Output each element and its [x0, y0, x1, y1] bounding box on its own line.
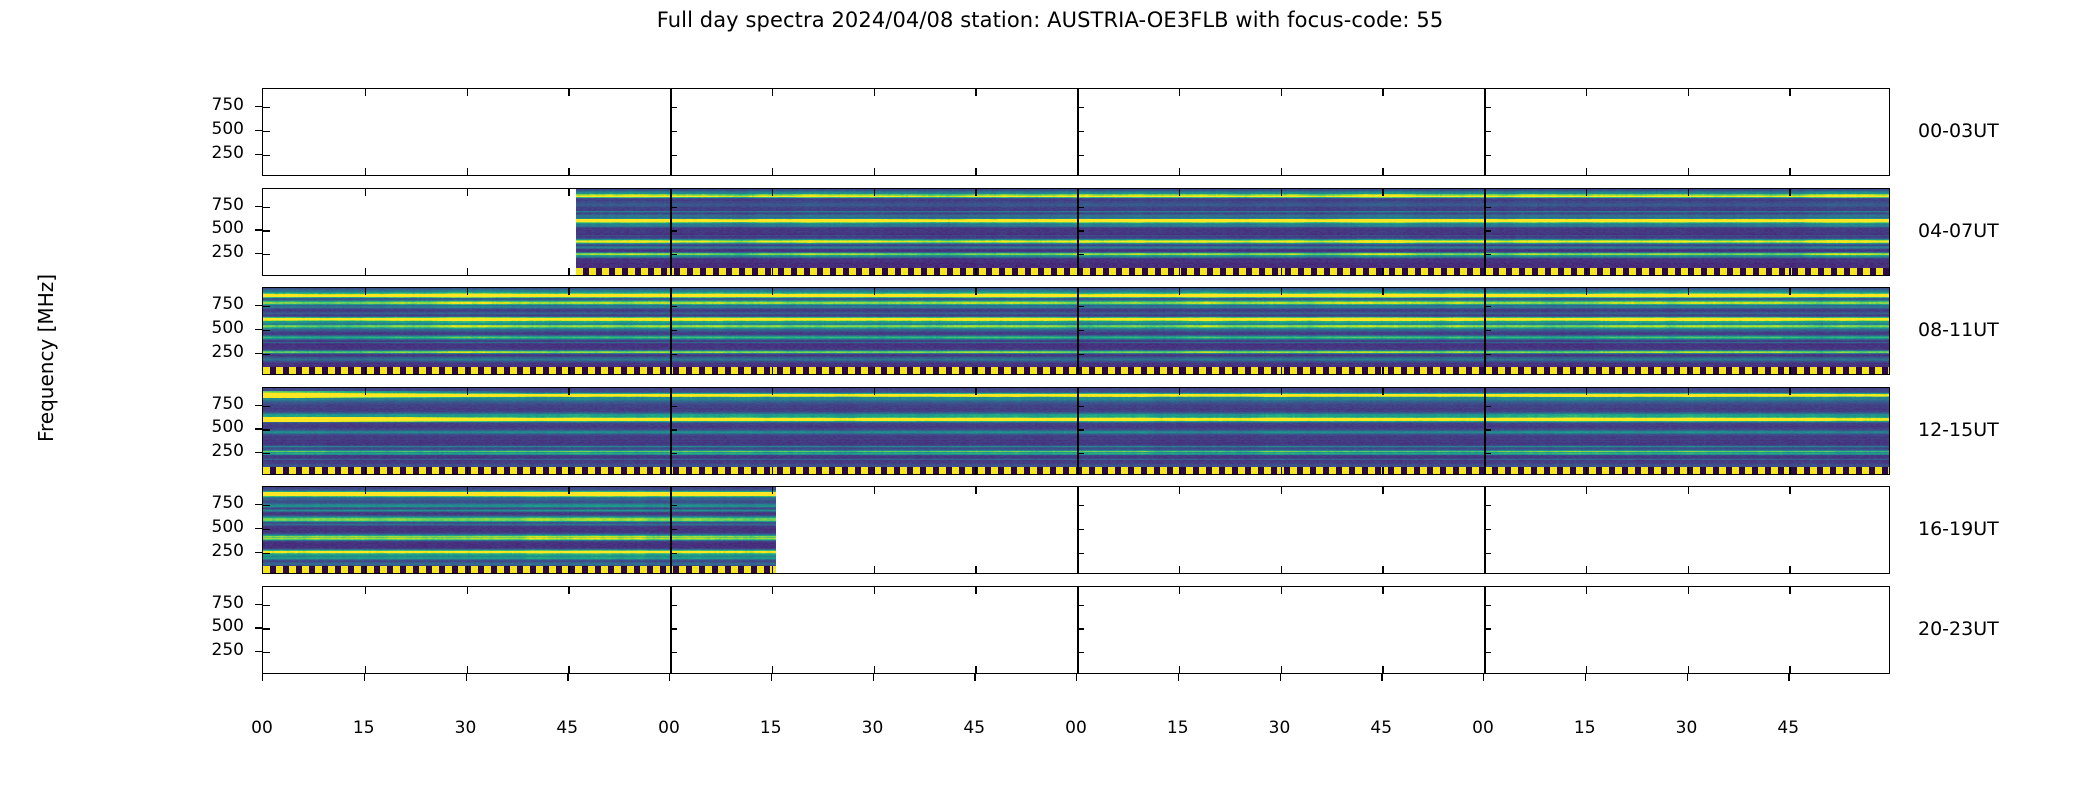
- spectrogram-row-12-15ut[interactable]: [262, 387, 1890, 475]
- x-tick-outer: [1381, 674, 1382, 681]
- y-tick: [670, 529, 677, 530]
- x-tick: [1281, 666, 1282, 673]
- y-tick-outer: [255, 627, 262, 628]
- y-tick: [670, 605, 677, 606]
- x-tick: [975, 587, 976, 594]
- y-tick: [263, 155, 270, 156]
- x-tick: [568, 367, 569, 374]
- x-tick: [467, 388, 468, 395]
- x-tick: [568, 89, 569, 96]
- x-tick: [365, 168, 366, 175]
- row-label-12-15ut: 12-15UT: [1918, 419, 1999, 441]
- x-tick: [1281, 168, 1282, 175]
- x-tick: [1688, 388, 1689, 395]
- x-tick: [1179, 587, 1180, 594]
- x-tick: [365, 587, 366, 594]
- y-tick: [1077, 230, 1084, 231]
- y-tick: [1077, 155, 1084, 156]
- x-tick: [1281, 288, 1282, 295]
- x-tick: [467, 367, 468, 374]
- y-tick: [1077, 453, 1084, 454]
- x-tick: [1382, 168, 1383, 175]
- x-tick-label: 15: [344, 718, 384, 738]
- y-tick: [1484, 330, 1491, 331]
- x-tick-label: 30: [446, 718, 486, 738]
- x-tick-label: 00: [1056, 718, 1096, 738]
- x-tick: [1789, 487, 1790, 494]
- x-tick-outer: [1585, 674, 1586, 681]
- y-tick: [1077, 306, 1084, 307]
- x-tick: [467, 288, 468, 295]
- x-tick: [365, 89, 366, 96]
- x-tick: [874, 388, 875, 395]
- x-tick: [1688, 168, 1689, 175]
- x-tick: [975, 268, 976, 275]
- y-tick: [670, 306, 677, 307]
- x-tick-outer: [1178, 674, 1179, 681]
- y-tick-outer: [255, 130, 262, 131]
- y-tick: [263, 107, 270, 108]
- x-tick: [1586, 168, 1587, 175]
- y-tick-label: 750: [190, 493, 244, 513]
- y-tick-label: 250: [190, 143, 244, 163]
- y-tick-outer: [255, 253, 262, 254]
- x-tick: [1586, 189, 1587, 196]
- x-tick: [874, 189, 875, 196]
- y-tick-outer: [255, 405, 262, 406]
- y-tick-outer: [255, 552, 262, 553]
- x-tick: [772, 189, 773, 196]
- x-tick: [1382, 566, 1383, 573]
- y-tick: [1077, 330, 1084, 331]
- y-tick: [1484, 406, 1491, 407]
- x-tick: [1281, 89, 1282, 96]
- x-tick: [1179, 89, 1180, 96]
- x-tick: [1179, 487, 1180, 494]
- x-tick: [1281, 487, 1282, 494]
- x-tick: [874, 168, 875, 175]
- x-tick-outer: [1280, 674, 1281, 681]
- row-label-04-07ut: 04-07UT: [1918, 220, 1999, 242]
- x-tick: [1281, 467, 1282, 474]
- x-tick: [1179, 367, 1180, 374]
- y-tick-outer: [255, 452, 262, 453]
- x-tick: [568, 189, 569, 196]
- y-tick: [1484, 553, 1491, 554]
- x-tick: [568, 467, 569, 474]
- x-tick: [772, 566, 773, 573]
- x-tick: [1281, 367, 1282, 374]
- y-tick: [263, 131, 270, 132]
- y-tick: [1077, 254, 1084, 255]
- x-tick: [568, 268, 569, 275]
- x-tick: [1789, 89, 1790, 96]
- y-tick: [263, 207, 270, 208]
- y-tick: [1484, 429, 1491, 430]
- y-tick: [1484, 628, 1491, 629]
- x-tick-outer: [974, 674, 975, 681]
- x-tick: [1382, 268, 1383, 275]
- x-tick: [1586, 89, 1587, 96]
- y-tick-label: 250: [190, 640, 244, 660]
- x-tick: [975, 487, 976, 494]
- y-tick-outer: [255, 154, 262, 155]
- y-tick-outer: [255, 428, 262, 429]
- x-tick: [772, 666, 773, 673]
- y-tick: [670, 354, 677, 355]
- x-tick: [365, 566, 366, 573]
- y-tick-outer: [255, 651, 262, 652]
- x-tick: [365, 487, 366, 494]
- y-tick: [1077, 652, 1084, 653]
- x-tick-label: 45: [954, 718, 994, 738]
- spectrogram-row-00-03ut[interactable]: [262, 88, 1890, 176]
- x-tick-label: 00: [649, 718, 689, 738]
- x-tick: [1281, 587, 1282, 594]
- y-tick-label: 750: [190, 294, 244, 314]
- y-tick-outer: [255, 329, 262, 330]
- x-tick: [568, 587, 569, 594]
- y-tick: [263, 254, 270, 255]
- x-tick: [874, 587, 875, 594]
- x-tick: [467, 587, 468, 594]
- x-tick-outer: [1687, 674, 1688, 681]
- x-tick: [1179, 288, 1180, 295]
- y-tick: [263, 605, 270, 606]
- y-tick: [1077, 354, 1084, 355]
- y-tick: [670, 429, 677, 430]
- spectrogram-figure: Full day spectra 2024/04/08 station: AUS…: [0, 0, 2100, 800]
- y-tick: [1077, 505, 1084, 506]
- x-tick: [1688, 666, 1689, 673]
- spectrogram-row-04-07ut[interactable]: [262, 188, 1890, 276]
- y-tick-label: 500: [190, 517, 244, 537]
- x-tick: [1688, 367, 1689, 374]
- x-tick: [1382, 388, 1383, 395]
- y-tick: [263, 453, 270, 454]
- row-label-00-03ut: 00-03UT: [1918, 120, 1999, 142]
- x-tick: [1382, 587, 1383, 594]
- y-tick: [1484, 605, 1491, 606]
- x-tick-outer: [567, 674, 568, 681]
- figure-title: Full day spectra 2024/04/08 station: AUS…: [0, 8, 2100, 32]
- x-tick: [975, 288, 976, 295]
- spectrogram-data: [263, 487, 776, 573]
- x-tick-outer: [771, 674, 772, 681]
- x-tick-outer: [466, 674, 467, 681]
- y-tick: [1484, 230, 1491, 231]
- x-tick: [467, 89, 468, 96]
- x-tick: [975, 666, 976, 673]
- x-tick-label: 15: [751, 718, 791, 738]
- y-tick: [1077, 628, 1084, 629]
- event-marker-strip: [263, 566, 776, 573]
- y-tick: [1484, 505, 1491, 506]
- x-tick-outer: [1483, 674, 1484, 681]
- x-tick: [365, 467, 366, 474]
- x-tick-outer: [262, 674, 263, 681]
- x-tick: [1789, 288, 1790, 295]
- spectrogram-row-16-19ut[interactable]: [262, 486, 1890, 574]
- y-tick-label: 500: [190, 119, 244, 139]
- x-tick-label: 45: [1361, 718, 1401, 738]
- y-tick: [670, 254, 677, 255]
- x-tick: [1586, 467, 1587, 474]
- y-tick-label: 250: [190, 541, 244, 561]
- y-tick: [670, 107, 677, 108]
- x-tick-label: 15: [1158, 718, 1198, 738]
- y-tick: [670, 406, 677, 407]
- x-tick: [467, 666, 468, 673]
- y-tick: [263, 652, 270, 653]
- y-tick-label: 750: [190, 195, 244, 215]
- x-tick: [365, 189, 366, 196]
- x-tick: [1382, 467, 1383, 474]
- x-tick: [772, 288, 773, 295]
- y-tick-outer: [255, 504, 262, 505]
- x-tick: [772, 587, 773, 594]
- y-tick: [263, 553, 270, 554]
- y-tick-outer: [255, 229, 262, 230]
- y-tick-outer: [255, 353, 262, 354]
- x-tick: [975, 367, 976, 374]
- x-tick: [1789, 367, 1790, 374]
- y-tick: [1077, 131, 1084, 132]
- x-tick: [365, 367, 366, 374]
- x-tick-outer: [669, 674, 670, 681]
- y-tick: [670, 330, 677, 331]
- y-tick-label: 250: [190, 441, 244, 461]
- x-tick: [1688, 467, 1689, 474]
- x-tick: [467, 268, 468, 275]
- x-tick: [568, 168, 569, 175]
- x-tick-outer: [1076, 674, 1077, 681]
- x-tick: [1179, 566, 1180, 573]
- y-tick: [670, 207, 677, 208]
- x-tick: [1586, 587, 1587, 594]
- x-tick: [467, 467, 468, 474]
- y-tick-label: 250: [190, 342, 244, 362]
- x-tick-label: 45: [1768, 718, 1808, 738]
- x-tick: [1382, 487, 1383, 494]
- y-tick: [1484, 131, 1491, 132]
- y-tick: [670, 652, 677, 653]
- x-tick-outer: [1788, 674, 1789, 681]
- y-tick: [670, 131, 677, 132]
- spectrogram-data: [576, 189, 1890, 275]
- x-tick: [467, 487, 468, 494]
- x-tick: [874, 467, 875, 474]
- y-tick: [263, 330, 270, 331]
- x-tick: [1586, 268, 1587, 275]
- x-tick: [1688, 89, 1689, 96]
- x-tick-label: 15: [1565, 718, 1605, 738]
- x-tick: [1586, 388, 1587, 395]
- y-tick: [670, 155, 677, 156]
- y-tick-outer: [255, 528, 262, 529]
- y-tick: [263, 505, 270, 506]
- x-tick-label: 30: [853, 718, 893, 738]
- y-tick-outer: [255, 106, 262, 107]
- x-tick: [874, 89, 875, 96]
- x-tick-label: 00: [1463, 718, 1503, 738]
- x-tick: [874, 367, 875, 374]
- y-tick: [1484, 652, 1491, 653]
- y-tick: [670, 553, 677, 554]
- y-tick: [263, 406, 270, 407]
- y-tick: [263, 529, 270, 530]
- y-tick: [1484, 354, 1491, 355]
- x-tick: [1382, 666, 1383, 673]
- x-tick: [365, 268, 366, 275]
- x-tick: [772, 367, 773, 374]
- x-tick: [975, 566, 976, 573]
- y-tick: [1484, 155, 1491, 156]
- x-tick: [975, 189, 976, 196]
- x-tick: [568, 388, 569, 395]
- row-label-16-19ut: 16-19UT: [1918, 518, 1999, 540]
- x-tick: [772, 168, 773, 175]
- x-tick: [1789, 268, 1790, 275]
- x-tick: [1688, 189, 1689, 196]
- y-tick-label: 750: [190, 95, 244, 115]
- y-tick: [670, 628, 677, 629]
- row-label-08-11ut: 08-11UT: [1918, 319, 1999, 341]
- y-tick: [670, 505, 677, 506]
- x-tick: [975, 467, 976, 474]
- x-tick: [772, 467, 773, 474]
- x-tick: [467, 566, 468, 573]
- x-tick: [1586, 666, 1587, 673]
- y-tick: [1077, 207, 1084, 208]
- x-tick-label: 45: [547, 718, 587, 738]
- x-tick: [874, 566, 875, 573]
- y-tick: [1484, 306, 1491, 307]
- x-tick: [1789, 467, 1790, 474]
- x-tick: [1179, 666, 1180, 673]
- x-tick: [772, 268, 773, 275]
- y-tick-label: 500: [190, 616, 244, 636]
- x-tick: [1789, 388, 1790, 395]
- y-tick: [263, 230, 270, 231]
- x-tick: [1688, 566, 1689, 573]
- x-tick-label: 30: [1667, 718, 1707, 738]
- x-tick: [1688, 288, 1689, 295]
- x-tick-outer: [364, 674, 365, 681]
- x-tick: [1586, 367, 1587, 374]
- x-tick: [772, 89, 773, 96]
- x-tick: [1179, 467, 1180, 474]
- spectrogram-row-20-23ut[interactable]: [262, 586, 1890, 674]
- x-tick: [772, 388, 773, 395]
- x-tick-label: 30: [1260, 718, 1300, 738]
- x-tick: [975, 168, 976, 175]
- y-tick: [1484, 254, 1491, 255]
- y-tick-label: 250: [190, 242, 244, 262]
- x-tick: [1382, 89, 1383, 96]
- x-tick: [467, 189, 468, 196]
- x-tick: [1382, 288, 1383, 295]
- x-tick: [1179, 388, 1180, 395]
- row-label-20-23ut: 20-23UT: [1918, 618, 1999, 640]
- y-tick-label: 750: [190, 394, 244, 414]
- x-tick: [874, 666, 875, 673]
- x-tick: [1688, 487, 1689, 494]
- x-tick: [874, 268, 875, 275]
- y-tick-outer: [255, 305, 262, 306]
- y-tick: [263, 306, 270, 307]
- y-tick: [1077, 429, 1084, 430]
- y-tick-label: 750: [190, 593, 244, 613]
- y-tick-label: 500: [190, 417, 244, 437]
- x-tick: [568, 666, 569, 673]
- x-tick: [365, 666, 366, 673]
- x-tick: [874, 487, 875, 494]
- y-tick: [1484, 107, 1491, 108]
- x-tick-outer: [873, 674, 874, 681]
- x-tick: [772, 487, 773, 494]
- y-tick-label: 500: [190, 318, 244, 338]
- y-tick-outer: [255, 206, 262, 207]
- y-axis-label: Frequency [MHz]: [34, 258, 58, 458]
- x-tick: [1382, 367, 1383, 374]
- y-tick: [1077, 605, 1084, 606]
- x-tick: [1281, 268, 1282, 275]
- x-tick: [975, 89, 976, 96]
- x-tick: [1586, 566, 1587, 573]
- y-tick-label: 500: [190, 218, 244, 238]
- x-tick: [1688, 268, 1689, 275]
- x-tick-label: 00: [242, 718, 282, 738]
- x-tick: [1179, 268, 1180, 275]
- y-tick: [263, 628, 270, 629]
- y-tick: [1077, 553, 1084, 554]
- spectrogram-row-08-11ut[interactable]: [262, 287, 1890, 375]
- y-tick: [263, 354, 270, 355]
- x-tick: [568, 288, 569, 295]
- y-tick: [670, 453, 677, 454]
- x-tick: [1789, 566, 1790, 573]
- x-tick: [1789, 587, 1790, 594]
- y-tick: [1077, 406, 1084, 407]
- y-tick: [263, 429, 270, 430]
- x-tick: [975, 388, 976, 395]
- x-tick: [1281, 566, 1282, 573]
- x-tick: [365, 288, 366, 295]
- x-tick: [568, 566, 569, 573]
- x-tick: [1281, 189, 1282, 196]
- x-tick: [1179, 189, 1180, 196]
- y-tick: [670, 230, 677, 231]
- y-tick: [1484, 529, 1491, 530]
- x-tick: [365, 388, 366, 395]
- y-tick: [1077, 107, 1084, 108]
- x-tick: [1789, 168, 1790, 175]
- x-tick: [1382, 189, 1383, 196]
- y-tick: [1077, 529, 1084, 530]
- y-tick-outer: [255, 604, 262, 605]
- y-tick: [1484, 207, 1491, 208]
- x-tick: [1789, 666, 1790, 673]
- x-tick: [1586, 288, 1587, 295]
- x-tick: [568, 487, 569, 494]
- x-tick: [1688, 587, 1689, 594]
- x-tick: [1179, 168, 1180, 175]
- x-tick: [1789, 189, 1790, 196]
- x-tick: [467, 168, 468, 175]
- x-tick: [874, 288, 875, 295]
- y-tick: [1484, 453, 1491, 454]
